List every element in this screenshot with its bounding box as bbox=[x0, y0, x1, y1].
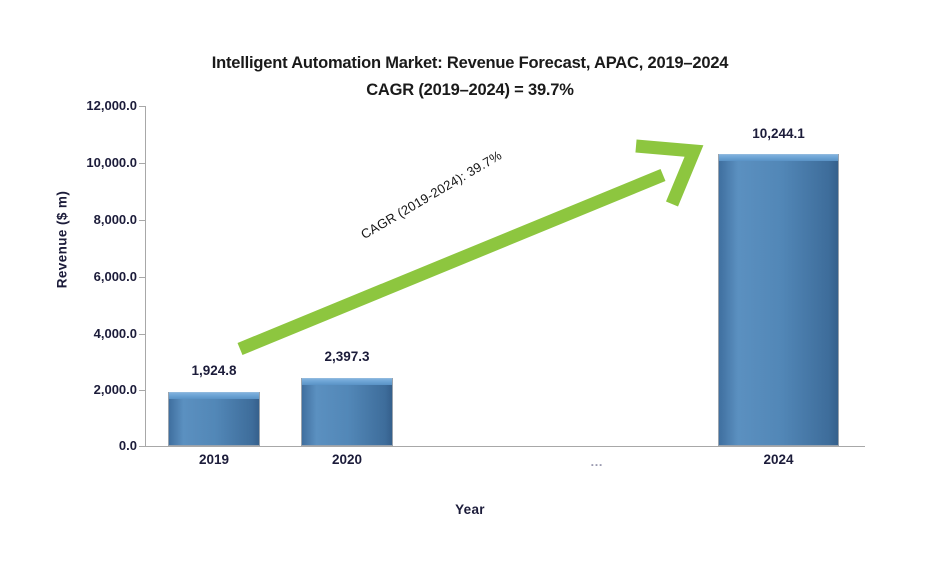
x-axis-title: Year bbox=[0, 502, 940, 517]
bar-top-highlight bbox=[719, 154, 838, 161]
y-tick-label-6000: 6,000.0 bbox=[55, 269, 137, 284]
chart-title-block: Intelligent Automation Market: Revenue F… bbox=[0, 50, 940, 104]
bar-2019[interactable] bbox=[168, 392, 260, 446]
y-tick-mark-12000 bbox=[139, 106, 145, 107]
x-category-label-ellipsis: … bbox=[557, 454, 637, 469]
y-tick-label-4000: 4,000.0 bbox=[55, 326, 137, 341]
x-category-label-2019: 2019 bbox=[168, 452, 260, 467]
x-category-label-2020: 2020 bbox=[301, 452, 393, 467]
x-category-label-2024: 2024 bbox=[718, 452, 839, 467]
y-tick-mark-2000 bbox=[139, 390, 145, 391]
data-label-2024: 10,244.1 bbox=[718, 126, 839, 141]
plot-area bbox=[145, 106, 865, 446]
bar-2024[interactable] bbox=[718, 154, 839, 446]
y-tick-mark-6000 bbox=[139, 277, 145, 278]
y-tick-label-8000: 8,000.0 bbox=[55, 212, 137, 227]
y-axis-title: Revenue ($ m) bbox=[55, 170, 70, 310]
y-tick-label-12000: 12,000.0 bbox=[55, 98, 137, 113]
y-tick-label-0: 0.0 bbox=[55, 438, 137, 453]
y-tick-label-2000: 2,000.0 bbox=[55, 382, 137, 397]
chart-title: Intelligent Automation Market: Revenue F… bbox=[0, 50, 940, 77]
y-tick-label-10000: 10,000.0 bbox=[55, 155, 137, 170]
x-axis-line bbox=[145, 446, 865, 447]
y-tick-mark-8000 bbox=[139, 220, 145, 221]
y-tick-mark-10000 bbox=[139, 163, 145, 164]
bar-top-highlight bbox=[302, 378, 392, 385]
chart-subtitle: CAGR (2019–2024) = 39.7% bbox=[0, 77, 940, 104]
bar-top-highlight bbox=[169, 392, 259, 399]
y-tick-mark-4000 bbox=[139, 334, 145, 335]
chart-container: Intelligent Automation Market: Revenue F… bbox=[0, 0, 940, 573]
data-label-2020: 2,397.3 bbox=[301, 349, 393, 364]
data-label-2019: 1,924.8 bbox=[168, 363, 260, 378]
y-axis-line bbox=[145, 106, 146, 447]
y-tick-mark-0 bbox=[139, 446, 145, 447]
bar-2020[interactable] bbox=[301, 378, 393, 446]
